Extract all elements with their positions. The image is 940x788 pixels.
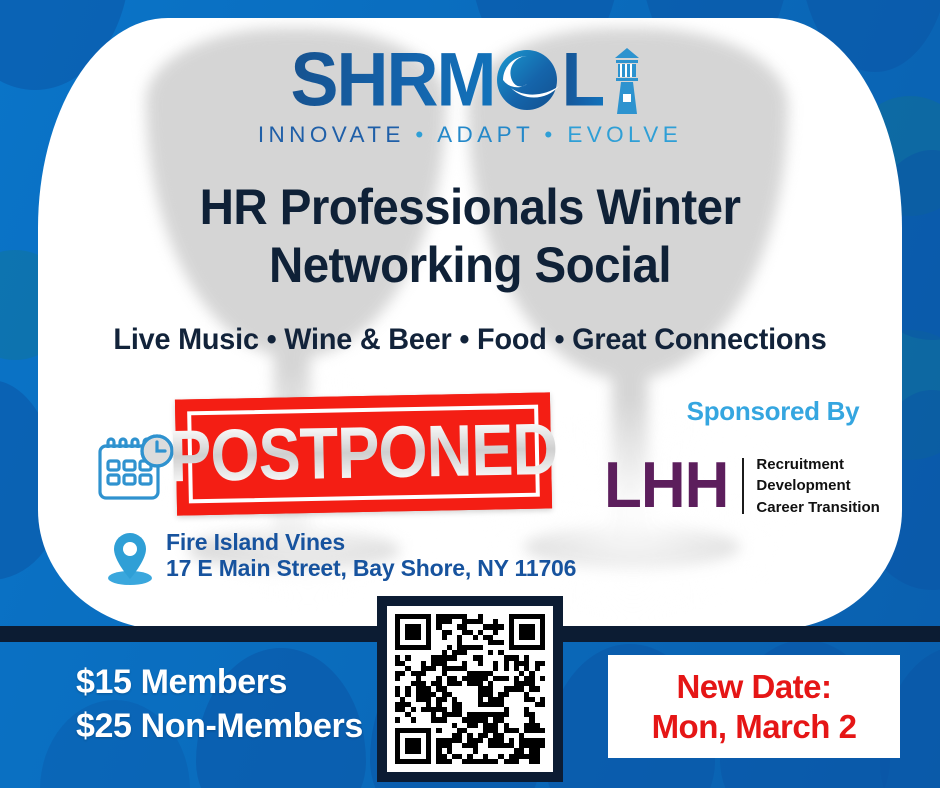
status-badge-label: POSTPONED [169,414,558,495]
lhh-wordmark: LHH [604,453,728,518]
shrm-li-logo: SHRM [38,42,902,148]
tagline-word-evolve: EVOLVE [567,122,682,147]
venue-address: 17 E Main Street, Bay Shore, NY 11706 [166,555,576,582]
event-title: HR Professionals Winter Networking Socia… [60,178,881,294]
new-date-box: New Date: Mon, March 2 [608,655,900,758]
logo-wordmark-shrm: SHRM [291,42,495,118]
tagline-word-innovate: INNOVATE [258,122,405,147]
event-features: Live Music • Wine & Beer • Food • Great … [55,323,884,357]
sponsor-heading: Sponsored By [628,396,902,427]
logo-tagline: INNOVATE • ADAPT • EVOLVE [38,122,902,148]
new-date-value: Mon, March 2 [652,707,857,747]
event-title-line2: Networking Social [60,236,881,294]
wave-orb-icon [489,42,565,118]
pricing-block: $15 Members $25 Non-Members [76,660,363,748]
tagline-word-adapt: ADAPT [437,122,534,147]
logo-wordmark-l: L [562,42,604,118]
lhh-service-2: Development [756,475,879,496]
calendar-clock-icon [94,432,180,508]
price-non-member: $25 Non-Members [76,704,363,748]
lhh-services: Recruitment Development Career Transitio… [756,454,879,518]
lhh-divider [742,458,744,514]
sponsor-logo-lhh: LHH Recruitment Development Career Trans… [604,455,880,517]
event-title-line1: HR Professionals Winter [60,178,881,236]
qr-code-matrix [395,614,545,764]
main-card: SHRM [38,18,902,630]
new-date-label: New Date: [676,667,831,707]
venue-name: Fire Island Vines [166,529,576,555]
lighthouse-icon [605,42,649,118]
event-flyer: SHRM [0,0,940,788]
lhh-service-1: Recruitment [756,454,879,475]
venue-info: Fire Island Vines 17 E Main Street, Bay … [166,529,576,582]
map-pin-icon [104,530,156,588]
price-member: $15 Members [76,660,363,704]
tagline-separator-1: • [415,122,427,147]
lhh-service-3: Career Transition [756,497,879,518]
qr-code-icon[interactable] [377,596,563,782]
status-badge-postponed: POSTPONED [175,392,552,515]
tagline-separator-2: • [544,122,556,147]
